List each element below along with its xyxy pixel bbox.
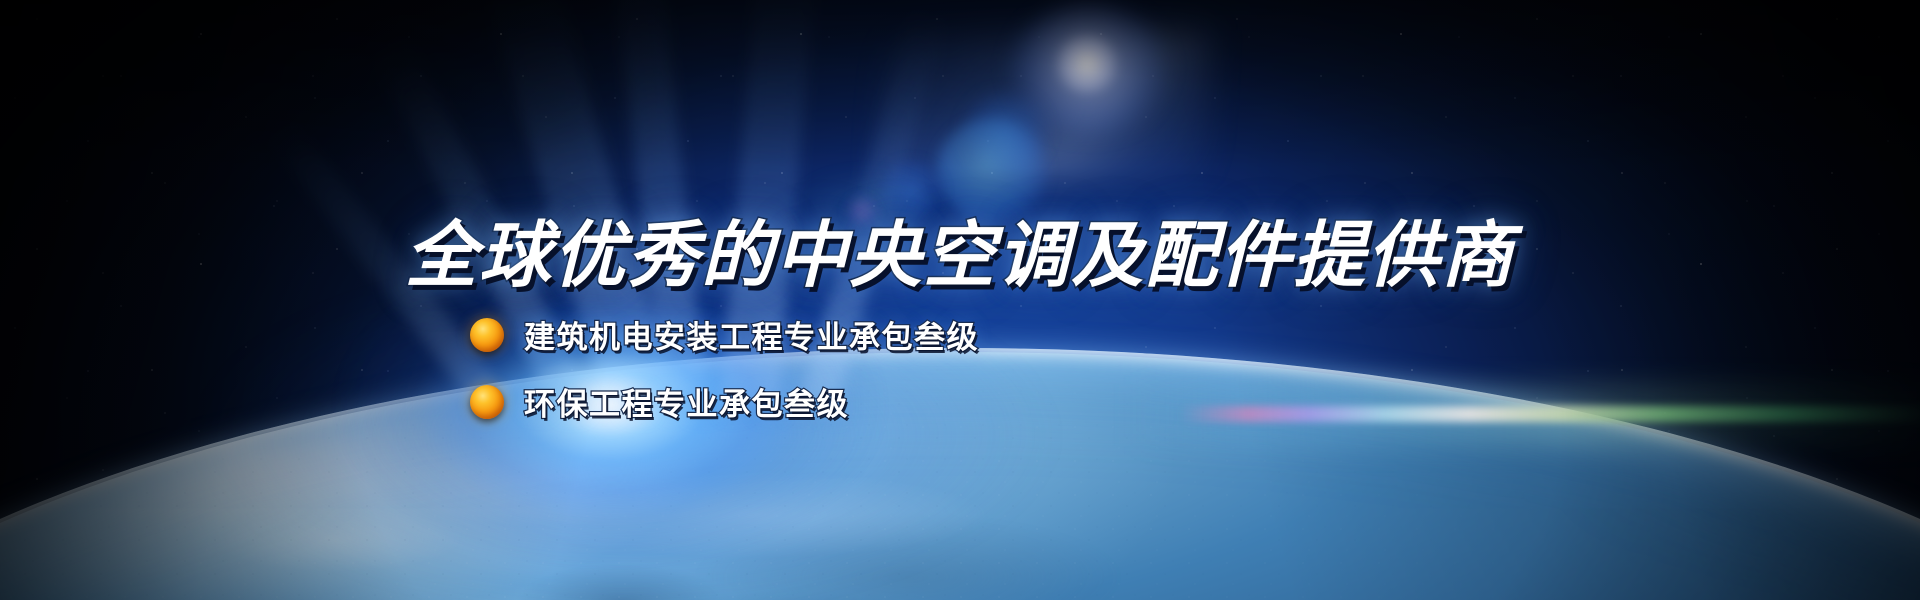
banner-content: 全球优秀的中央空调及配件提供商 建筑机电安装工程专业承包叁级 环保工程专业承包叁… <box>0 0 1920 600</box>
list-item: 环保工程专业承包叁级 <box>470 379 979 424</box>
certification-list: 建筑机电安装工程专业承包叁级 环保工程专业承包叁级 <box>470 312 979 424</box>
orange-dot-icon <box>470 385 504 419</box>
hero-banner: 全球优秀的中央空调及配件提供商 建筑机电安装工程专业承包叁级 环保工程专业承包叁… <box>0 0 1920 600</box>
banner-headline: 全球优秀的中央空调及配件提供商 <box>0 196 1920 301</box>
certification-label: 环保工程专业承包叁级 <box>524 379 849 424</box>
certification-label: 建筑机电安装工程专业承包叁级 <box>524 312 979 357</box>
list-item: 建筑机电安装工程专业承包叁级 <box>470 312 979 357</box>
orange-dot-icon <box>470 318 504 352</box>
